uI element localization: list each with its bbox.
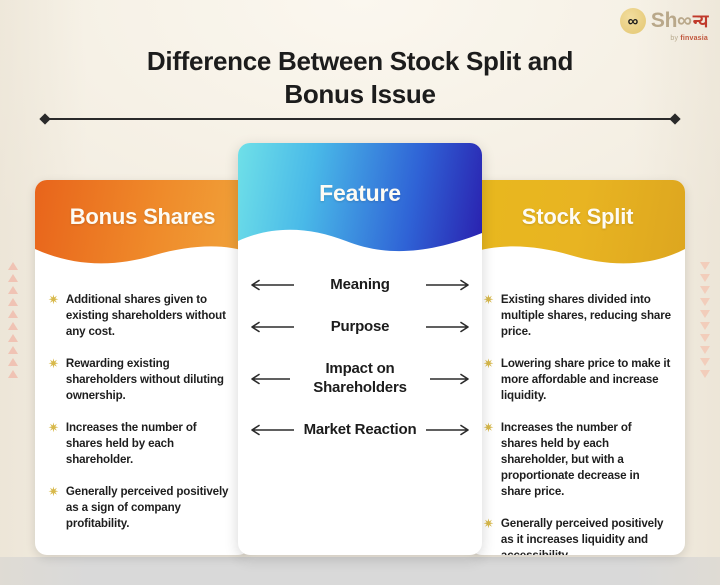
triangle-up-icon — [8, 286, 18, 294]
triangle-down-icon — [700, 262, 710, 270]
triangle-up-icon — [8, 370, 18, 378]
arrow-right-icon — [426, 279, 472, 291]
bonus-shares-bullet-list: ✷ Additional shares given to existing sh… — [35, 270, 250, 532]
list-item-text: Increases the number of shares held by e… — [66, 420, 236, 468]
infinity-icon: ∞ — [620, 8, 646, 34]
list-item: ✷ Increases the number of shares held by… — [48, 420, 236, 468]
arrow-left-icon — [248, 373, 290, 385]
arrow-right-icon — [426, 321, 472, 333]
triangle-up-icon — [8, 310, 18, 318]
left-triangle-strip — [8, 262, 18, 378]
list-item-text: Rewarding existing shareholders without … — [66, 356, 236, 404]
list-item: ✷ Increases the number of shares held by… — [483, 420, 671, 500]
triangle-down-icon — [700, 322, 710, 330]
bonus-shares-card: Bonus Shares ✷ Additional shares given t… — [35, 180, 250, 555]
star-bullet-icon: ✷ — [483, 356, 494, 404]
stock-split-card: Stock Split ✷ Existing shares divided in… — [470, 180, 685, 555]
arrow-left-icon — [248, 279, 294, 291]
list-item-text: Lowering share price to make it more aff… — [501, 356, 671, 404]
star-bullet-icon: ✷ — [483, 292, 494, 340]
triangle-down-icon — [700, 334, 710, 342]
arrow-right-icon — [430, 373, 472, 385]
logo-row: ∞ Sh ∞ न्य — [620, 8, 708, 34]
feature-heading: Feature — [238, 180, 482, 207]
feature-label: Impact on Shareholders — [290, 360, 430, 398]
list-item: ✷ Lowering share price to make it more a… — [483, 356, 671, 404]
triangle-down-icon — [700, 298, 710, 306]
wave-divider-icon — [35, 241, 250, 271]
triangle-down-icon — [700, 370, 710, 378]
star-bullet-icon: ✷ — [483, 516, 494, 555]
feature-header: Feature — [238, 143, 482, 258]
triangle-down-icon — [700, 286, 710, 294]
feature-row-list: Meaning Purpose Impact on Shareholders — [238, 258, 482, 439]
arrow-left-icon — [248, 424, 294, 436]
stock-split-heading: Stock Split — [470, 204, 685, 230]
triangle-up-icon — [8, 322, 18, 330]
stock-split-header: Stock Split — [470, 180, 685, 270]
logo-byline-brand: finvasia — [680, 35, 708, 42]
triangle-down-icon — [700, 346, 710, 354]
triangle-up-icon — [8, 298, 18, 306]
triangle-up-icon — [8, 274, 18, 282]
triangle-down-icon — [700, 358, 710, 366]
logo-wordmark: Sh ∞ न्य — [651, 9, 708, 33]
feature-card: Feature Meaning Purpose Impact on Sh — [238, 143, 482, 555]
brand-logo: ∞ Sh ∞ न्य by finvasia — [620, 8, 708, 42]
logo-word-devanagari: न्य — [693, 9, 708, 33]
triangle-up-icon — [8, 334, 18, 342]
arrow-right-icon — [426, 424, 472, 436]
title-divider — [45, 118, 675, 120]
list-item-text: Generally perceived positively as it inc… — [501, 516, 671, 555]
right-triangle-strip — [700, 262, 710, 378]
feature-label: Market Reaction — [294, 421, 426, 440]
bottom-band — [0, 557, 720, 585]
bonus-shares-heading: Bonus Shares — [35, 204, 250, 230]
triangle-up-icon — [8, 262, 18, 270]
logo-word-main: Sh — [651, 9, 677, 33]
triangle-down-icon — [700, 310, 710, 318]
star-bullet-icon: ✷ — [48, 292, 59, 340]
logo-byline-prefix: by — [670, 35, 680, 42]
list-item: ✷ Existing shares divided into multiple … — [483, 292, 671, 340]
triangle-down-icon — [700, 274, 710, 282]
feature-label: Purpose — [294, 318, 426, 337]
feature-row: Purpose — [248, 318, 472, 337]
star-bullet-icon: ✷ — [48, 484, 59, 532]
list-item-text: Increases the number of shares held by e… — [501, 420, 671, 500]
list-item-text: Existing shares divided into multiple sh… — [501, 292, 671, 340]
triangle-up-icon — [8, 346, 18, 354]
bonus-shares-header: Bonus Shares — [35, 180, 250, 270]
star-bullet-icon: ✷ — [483, 420, 494, 500]
list-item-text: Additional shares given to existing shar… — [66, 292, 236, 340]
feature-row: Impact on Shareholders — [248, 360, 472, 398]
page-title: Difference Between Stock Split and Bonus… — [0, 45, 720, 112]
triangle-up-icon — [8, 358, 18, 366]
feature-label: Meaning — [294, 276, 426, 295]
stock-split-bullet-list: ✷ Existing shares divided into multiple … — [470, 270, 685, 555]
wave-divider-icon — [470, 241, 685, 271]
logo-byline: by finvasia — [670, 35, 708, 42]
logo-word-infinity: ∞ — [677, 9, 692, 33]
feature-row: Meaning — [248, 276, 472, 295]
list-item: ✷ Rewarding existing shareholders withou… — [48, 356, 236, 404]
list-item: ✷ Generally perceived positively as it i… — [483, 516, 671, 555]
list-item: ✷ Additional shares given to existing sh… — [48, 292, 236, 340]
page-title-line-1: Difference Between Stock Split and — [0, 45, 720, 78]
page-title-line-2: Bonus Issue — [0, 78, 720, 111]
wave-divider-icon — [238, 219, 482, 259]
arrow-left-icon — [248, 321, 294, 333]
feature-row: Market Reaction — [248, 421, 472, 440]
list-item-text: Generally perceived positively as a sign… — [66, 484, 236, 532]
star-bullet-icon: ✷ — [48, 420, 59, 468]
list-item: ✷ Generally perceived positively as a si… — [48, 484, 236, 532]
star-bullet-icon: ✷ — [48, 356, 59, 404]
